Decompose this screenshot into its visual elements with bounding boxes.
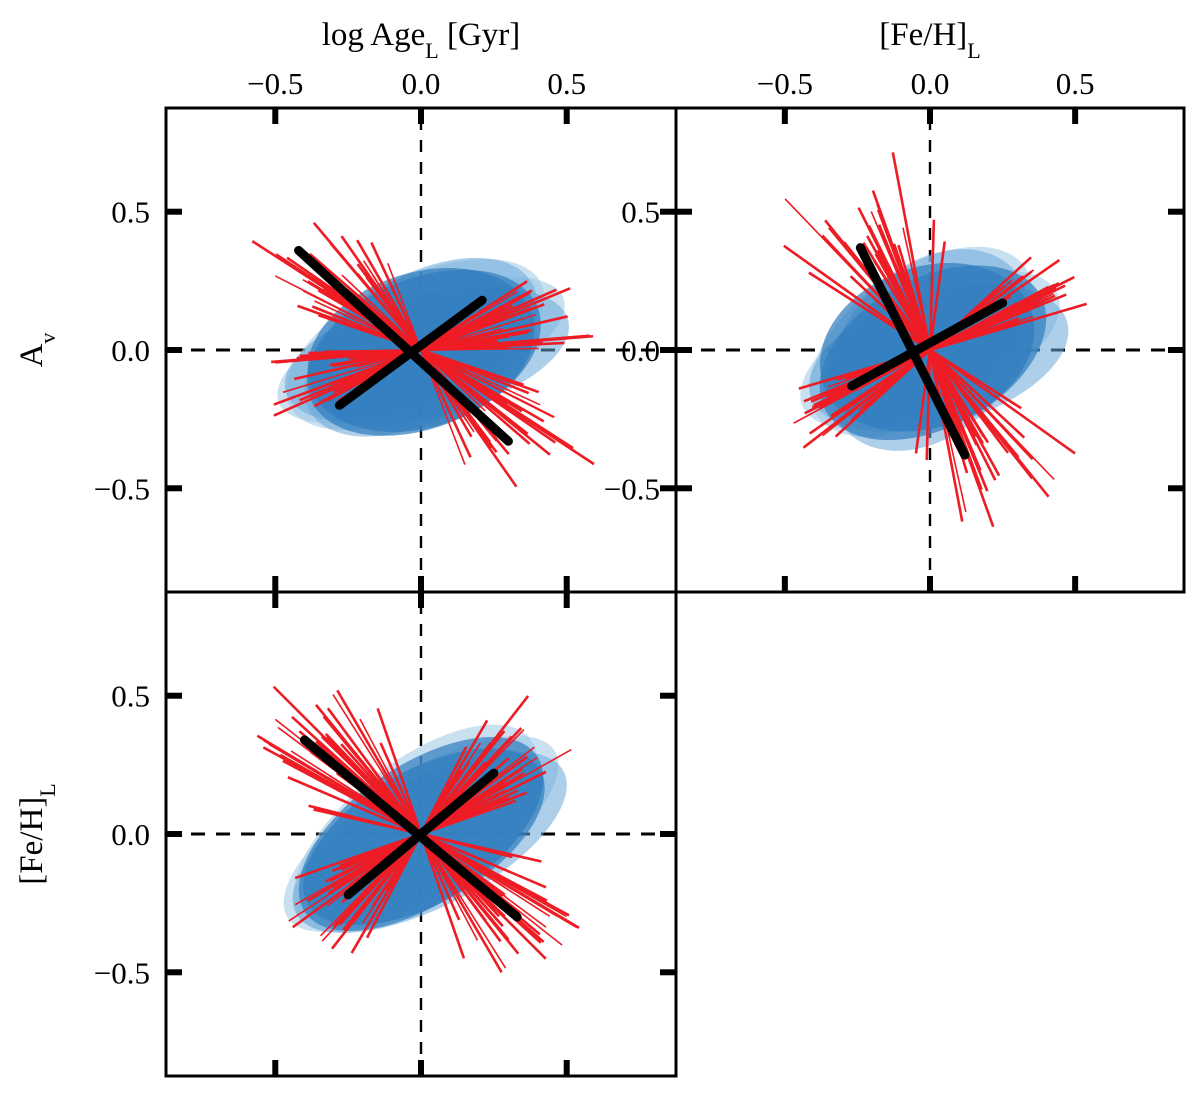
x-tick-label: 0.5 <box>547 66 586 101</box>
panel-top-right: −0.50.00.50.50.0−0.5 <box>604 66 1184 592</box>
x-tick-label: 0.0 <box>402 66 441 101</box>
axis-title-text: log Age <box>322 17 426 53</box>
axis-title-text: A <box>14 343 50 367</box>
axis-title-subscript: L <box>35 783 60 796</box>
multi-panel-ellipse-figure: −0.50.00.50.50.0−0.5−0.50.00.50.50.0−0.5… <box>0 0 1200 1093</box>
axis-title-subscript: v <box>35 333 60 344</box>
axis-title-subscript: L <box>967 38 980 63</box>
y-tick-label: 0.0 <box>111 333 150 368</box>
axis-title-text: [Fe/H] <box>879 17 967 53</box>
y-tick-label: 0.5 <box>111 679 150 714</box>
y-tick-label: 0.0 <box>111 817 150 852</box>
y-axis-title-feh: [Fe/H]L <box>14 783 60 884</box>
x-tick-label: −0.5 <box>757 66 813 101</box>
y-tick-label: −0.5 <box>94 471 150 506</box>
panel-bottom-left: 0.50.0−0.5 <box>94 592 676 1076</box>
x-axis-title-feh: [Fe/H]L <box>879 17 980 63</box>
x-tick-label: −0.5 <box>247 66 303 101</box>
x-tick-label: 0.0 <box>911 66 950 101</box>
axis-title-subscript: L <box>425 38 438 63</box>
x-axis-title-age: log AgeL [Gyr] <box>322 17 521 63</box>
figure-root: −0.50.00.50.50.0−0.5−0.50.00.50.50.0−0.5… <box>0 0 1200 1093</box>
y-tick-label: −0.5 <box>94 955 150 990</box>
y-tick-label: 0.5 <box>621 195 660 230</box>
axis-title-text: [Gyr] <box>439 17 521 53</box>
y-tick-label: 0.0 <box>621 333 660 368</box>
panel-top-left: −0.50.00.50.50.0−0.5 <box>94 66 676 592</box>
axis-title-text: [Fe/H] <box>14 797 50 885</box>
y-tick-label: 0.5 <box>111 195 150 230</box>
y-tick-label: −0.5 <box>604 471 660 506</box>
y-axis-title-av: Av <box>14 333 60 368</box>
x-tick-label: 0.5 <box>1056 66 1095 101</box>
